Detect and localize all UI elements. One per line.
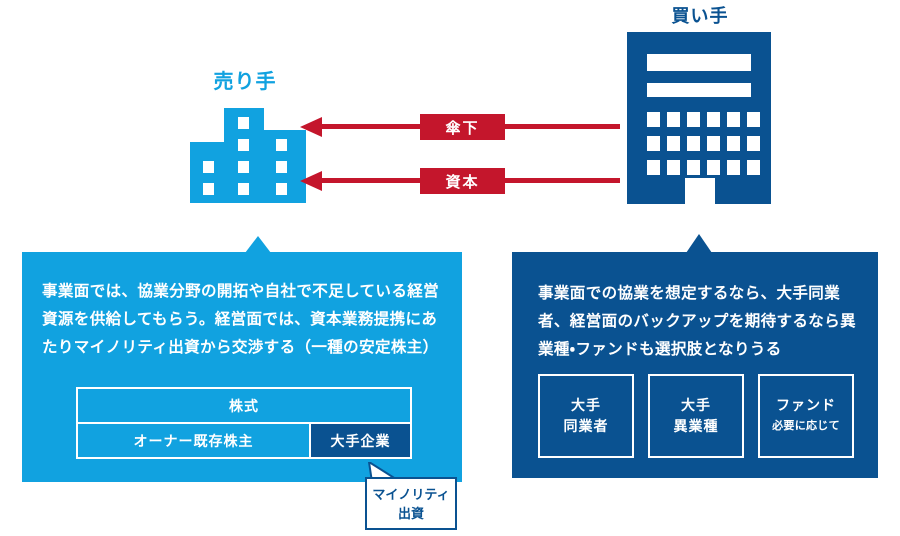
callout-line1: マイノリティ (372, 485, 449, 504)
stock-table: 株式 オーナー既存株主 大手企業 (76, 387, 412, 459)
flow-capital: 資本 (300, 168, 620, 194)
buyer-panel-pointer (686, 234, 712, 253)
buyer-building-icon (627, 32, 771, 204)
option-box-major-other-industry: 大手 異業種 (648, 374, 744, 458)
callout-line2: 出資 (372, 504, 449, 523)
buyer-party-label: 買い手 (648, 2, 752, 28)
stock-cell-major-company: 大手企業 (310, 423, 412, 459)
buyer-panel-text: 事業面での協業を想定するなら、大手同業者、経営面のバックアップを期待するなら異業… (538, 280, 856, 364)
table-row: オーナー既存株主 大手企業 (76, 423, 412, 459)
diagram-canvas: 売り手 買い手 (0, 0, 900, 536)
flow-umbrella: 傘下 (300, 114, 620, 140)
seller-panel-pointer (245, 236, 271, 253)
option-label-line2: 異業種 (674, 416, 719, 437)
option-label-line1: ファンド (776, 395, 836, 416)
seller-party-label: 売り手 (195, 65, 295, 94)
option-label-line1: 大手 (571, 395, 601, 416)
seller-panel: 事業面では、協業分野の開拓や自社で不足している経営資源を供給してもらう。経営面で… (22, 252, 462, 482)
option-box-fund: ファンド 必要に応じて (758, 374, 854, 458)
seller-building-icon (190, 108, 306, 203)
table-row: 株式 (76, 387, 412, 423)
option-label-line2: 同業者 (564, 416, 609, 437)
seller-panel-text: 事業面では、協業分野の開拓や自社で不足している経営資源を供給してもらう。経営面で… (42, 278, 446, 362)
stock-table-header: 株式 (76, 387, 412, 423)
stock-cell-owner: オーナー既存株主 (76, 423, 310, 459)
buyer-panel: 事業面での協業を想定するなら、大手同業者、経営面のバックアップを期待するなら異業… (512, 252, 878, 478)
minority-investment-callout: マイノリティ 出資 (365, 477, 457, 530)
flow-chip-capital: 資本 (420, 168, 505, 194)
buyer-option-list: 大手 同業者 大手 異業種 ファンド 必要に応じて (538, 374, 854, 458)
option-label-line2: 必要に応じて (772, 416, 840, 437)
option-label-line1: 大手 (681, 395, 711, 416)
option-box-major-same-industry: 大手 同業者 (538, 374, 634, 458)
flow-chip-umbrella: 傘下 (420, 114, 505, 140)
